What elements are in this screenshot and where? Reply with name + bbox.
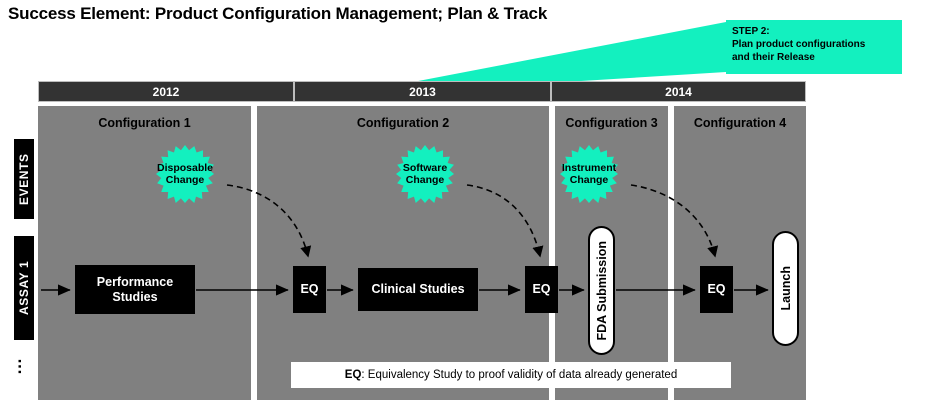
legend-abbr: EQ — [345, 369, 362, 381]
step2-callout: STEP 2: Plan product configurations and … — [726, 20, 902, 74]
process-box-performance-studies[interactable]: Performance Studies — [75, 265, 195, 314]
callout-line-3: and their Release — [732, 51, 900, 64]
event-burst-instrument-change[interactable]: Instrument Change — [543, 145, 635, 203]
launch-label: Launch — [779, 266, 793, 310]
timeline-year-bar: 2012 2013 2014 — [38, 81, 806, 102]
year-2012: 2012 — [38, 81, 294, 102]
row-label-events: EVENTS — [14, 139, 34, 219]
callout-line-2: Plan product configurations — [732, 38, 900, 51]
year-2014: 2014 — [551, 81, 806, 102]
row-label-assay-1: ASSAY 1 — [14, 236, 34, 340]
starburst-shape — [379, 145, 471, 203]
panel-title-4: Configuration 4 — [674, 116, 806, 130]
slide-canvas: Success Element: Product Configuration M… — [0, 0, 942, 400]
fda-submission-label: FDA Submission — [595, 241, 609, 341]
process-box-fda-submission[interactable]: FDA Submission — [588, 226, 615, 355]
panel-title-1: Configuration 1 — [38, 116, 251, 130]
performance-studies-line-2: Studies — [97, 290, 173, 305]
process-box-eq-3[interactable]: EQ — [700, 266, 733, 313]
callout-line-1: STEP 2: — [732, 25, 900, 38]
legend-text: : Equivalency Study to proof validity of… — [361, 369, 677, 381]
process-box-eq-2[interactable]: EQ — [525, 266, 558, 313]
performance-studies-line-1: Performance — [97, 275, 173, 290]
event-burst-software-change[interactable]: Software Change — [379, 145, 471, 203]
process-box-eq-1[interactable]: EQ — [293, 266, 326, 313]
panel-title-2: Configuration 2 — [257, 116, 549, 130]
performance-studies-label: Performance Studies — [97, 275, 173, 305]
step2-callout-text: STEP 2: Plan product configurations and … — [732, 25, 900, 64]
legend-eq-definition: EQ: Equivalency Study to proof validity … — [291, 362, 731, 388]
page-title: Success Element: Product Configuration M… — [8, 4, 547, 24]
row-label-more-ellipsis: … — [14, 352, 34, 382]
event-burst-disposable-change[interactable]: Disposable Change — [139, 145, 231, 203]
panel-title-3: Configuration 3 — [555, 116, 668, 130]
process-box-clinical-studies[interactable]: Clinical Studies — [358, 268, 478, 311]
starburst-shape — [543, 145, 635, 203]
year-2013: 2013 — [294, 81, 551, 102]
starburst-shape — [139, 145, 231, 203]
process-box-launch[interactable]: Launch — [772, 231, 799, 346]
